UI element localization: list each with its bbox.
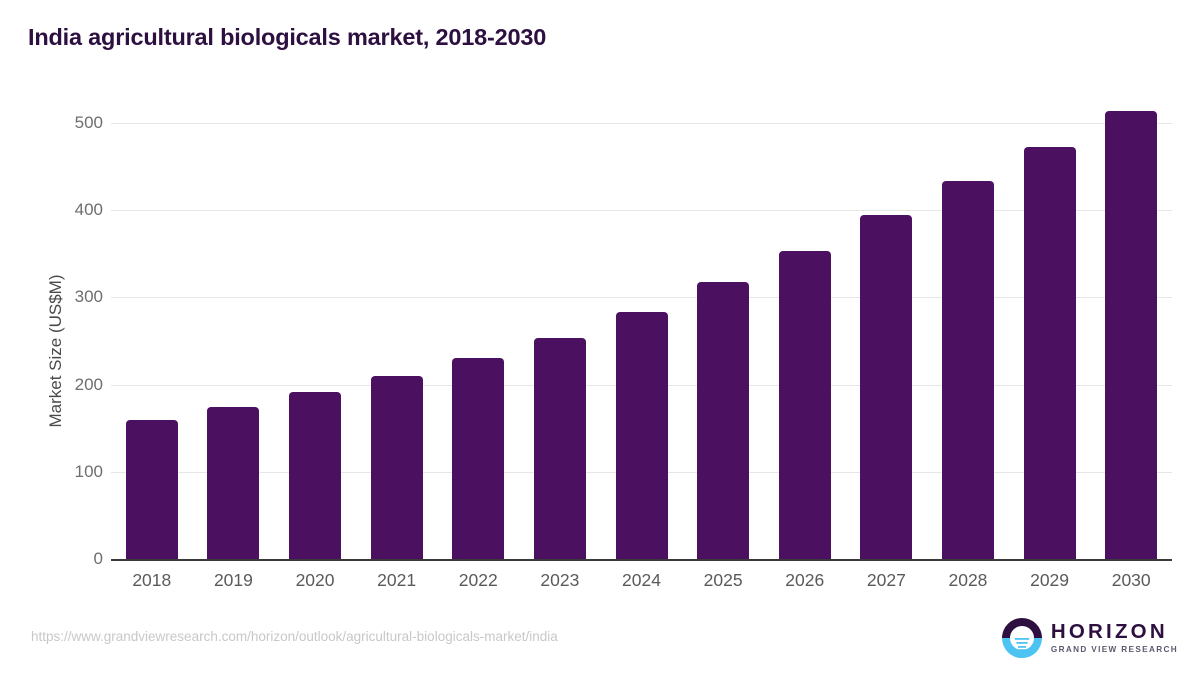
bar-2021[interactable] xyxy=(371,376,423,559)
chart-page: India agricultural biologicals market, 2… xyxy=(0,0,1200,675)
bar-2019[interactable] xyxy=(207,407,259,559)
bar-2022[interactable] xyxy=(452,358,504,559)
horizon-sun-circle-icon xyxy=(1002,618,1042,658)
x-axis-tick-labels: 2018201920202021202220232024202520262027… xyxy=(111,570,1172,600)
bar-2024[interactable] xyxy=(616,312,668,559)
y-axis-tick-label: 300 xyxy=(13,287,103,307)
logo-tagline: GRAND VIEW RESEARCH xyxy=(1051,646,1178,654)
page-title: India agricultural biologicals market, 2… xyxy=(28,24,546,51)
x-axis-tick-label-2027: 2027 xyxy=(846,570,927,591)
x-axis-tick-label-2028: 2028 xyxy=(927,570,1008,591)
bar-2020[interactable] xyxy=(289,392,341,559)
x-axis-tick-label-2030: 2030 xyxy=(1091,570,1172,591)
x-axis-tick-label-2021: 2021 xyxy=(356,570,437,591)
bar-2026[interactable] xyxy=(779,251,831,559)
source-url[interactable]: https://www.grandviewresearch.com/horizo… xyxy=(31,629,558,644)
x-axis-tick-label-2029: 2029 xyxy=(1009,570,1090,591)
bar-2025[interactable] xyxy=(697,282,749,559)
x-axis-tick-label-2024: 2024 xyxy=(601,570,682,591)
x-axis-tick-label-2022: 2022 xyxy=(438,570,519,591)
y-axis-tick-labels: 0100200300400500 xyxy=(0,0,103,675)
x-axis-tick-label-2020: 2020 xyxy=(275,570,356,591)
logo-text-block: HORIZON GRAND VIEW RESEARCH xyxy=(1051,622,1178,655)
y-axis-tick-label: 500 xyxy=(13,113,103,133)
x-axis-tick-label-2023: 2023 xyxy=(519,570,600,591)
bar-2023[interactable] xyxy=(534,338,586,559)
y-axis-tick-label: 0 xyxy=(13,549,103,569)
bar-2029[interactable] xyxy=(1024,147,1076,559)
bar-2030[interactable] xyxy=(1105,111,1157,559)
bar-series xyxy=(111,100,1172,559)
y-axis-tick-label: 100 xyxy=(13,462,103,482)
y-axis-tick-label: 200 xyxy=(13,375,103,395)
bar-2028[interactable] xyxy=(942,181,994,559)
bar-2018[interactable] xyxy=(126,420,178,559)
x-axis-tick-label-2018: 2018 xyxy=(111,570,192,591)
brand-logo[interactable]: HORIZON GRAND VIEW RESEARCH xyxy=(1002,617,1178,659)
x-axis-tick-label-2026: 2026 xyxy=(764,570,845,591)
x-axis-line xyxy=(111,559,1172,561)
logo-wordmark: HORIZON xyxy=(1051,622,1178,643)
x-axis-tick-label-2019: 2019 xyxy=(193,570,274,591)
bar-2027[interactable] xyxy=(860,215,912,559)
y-axis-tick-label: 400 xyxy=(13,200,103,220)
x-axis-tick-label-2025: 2025 xyxy=(683,570,764,591)
